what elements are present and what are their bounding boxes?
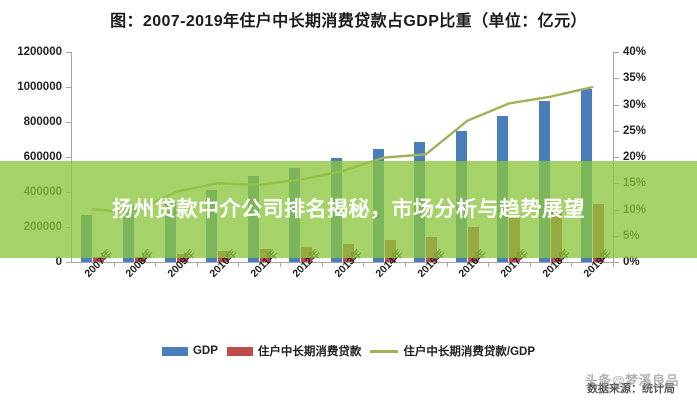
x-tick bbox=[280, 262, 281, 267]
legend-label-gdp: GDP bbox=[193, 345, 218, 357]
legend-item-gdp: GDP bbox=[162, 345, 218, 357]
x-tick bbox=[114, 262, 115, 267]
x-tick bbox=[613, 262, 614, 267]
y-tick-left bbox=[66, 87, 71, 88]
x-tick bbox=[155, 262, 156, 267]
y-axis-left-label: 1200000 bbox=[0, 46, 62, 58]
x-tick bbox=[447, 262, 448, 267]
y-tick-left bbox=[66, 52, 71, 53]
y-axis-right-label: 25% bbox=[623, 125, 646, 137]
chart-screenshot: 图：2007-2019年住户中长期消费贷款占GDP比重（单位：亿元） 02000… bbox=[0, 0, 697, 400]
y-tick-left bbox=[66, 262, 71, 263]
y-tick-left bbox=[66, 157, 71, 158]
x-tick bbox=[238, 262, 239, 267]
y-tick-right bbox=[614, 131, 619, 132]
x-tick bbox=[363, 262, 364, 267]
y-tick-right bbox=[614, 157, 619, 158]
legend-item-loan: 住户中长期消费贷款 bbox=[227, 343, 362, 359]
y-tick-right bbox=[614, 105, 619, 106]
y-tick-right bbox=[614, 52, 619, 53]
x-tick bbox=[405, 262, 406, 267]
y-tick-right bbox=[614, 78, 619, 79]
legend-swatch-ratio-icon bbox=[370, 350, 398, 353]
legend-label-ratio: 住户中长期消费贷款/GDP bbox=[403, 343, 535, 359]
x-tick bbox=[571, 262, 572, 267]
chart-title: 图：2007-2019年住户中长期消费贷款占GDP比重（单位：亿元） bbox=[0, 7, 697, 31]
x-tick bbox=[530, 262, 531, 267]
y-axis-right-label: 30% bbox=[623, 99, 646, 111]
x-tick bbox=[488, 262, 489, 267]
chart-legend: GDP 住户中长期消费贷款 住户中长期消费贷款/GDP bbox=[0, 343, 697, 359]
y-axis-right-label: 35% bbox=[623, 72, 646, 84]
legend-item-ratio: 住户中长期消费贷款/GDP bbox=[370, 343, 535, 359]
x-tick bbox=[322, 262, 323, 267]
y-axis-right-label: 40% bbox=[623, 46, 646, 58]
legend-swatch-loan-icon bbox=[227, 347, 253, 356]
y-tick-right bbox=[614, 262, 619, 263]
y-tick-left bbox=[66, 122, 71, 123]
y-axis-left-label: 800000 bbox=[0, 116, 62, 128]
overlay-headline: 扬州贷款中介公司排名揭秘，市场分析与趋势展望 bbox=[0, 161, 697, 258]
legend-label-loan: 住户中长期消费贷款 bbox=[258, 343, 362, 359]
y-axis-left-label: 1000000 bbox=[0, 81, 62, 93]
x-tick bbox=[197, 262, 198, 267]
legend-swatch-gdp-icon bbox=[162, 347, 188, 356]
watermark: 头条@梦溪良品 bbox=[585, 370, 679, 389]
